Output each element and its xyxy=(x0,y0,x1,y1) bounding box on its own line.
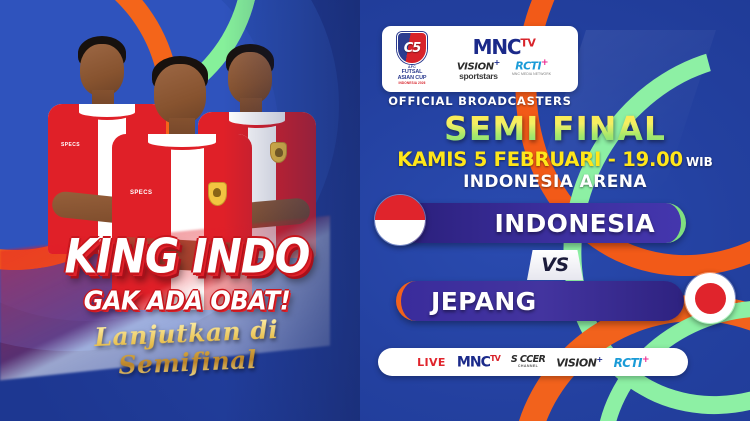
live-vision-wordmark: VISION xyxy=(556,356,596,369)
live-soccer-channel-logo: S CCER CHANNEL xyxy=(511,355,545,368)
match-timezone: WIB xyxy=(686,155,713,169)
promo-headline: KING INDO GAK ADA OBAT! Lanjutkan di Sem… xyxy=(22,236,352,377)
live-vision-plus-mark: + xyxy=(596,355,602,364)
away-team-name: JEPANG xyxy=(431,287,537,316)
sportstars-wordmark: sportstars xyxy=(457,72,500,81)
rcti-network-subtext: MNC MEDIA NETWORK xyxy=(512,73,551,77)
versus-label: VS xyxy=(541,254,568,276)
live-mnctv-wordmark: MNC xyxy=(457,354,490,370)
live-vision-plus-logo: VISION+ xyxy=(556,355,602,370)
secondary-broadcaster-row: VISION+ sportstars RCTI+ MNC MEDIA NETWO… xyxy=(457,59,551,82)
vision-plus-logo: VISION+ sportstars xyxy=(457,59,500,82)
match-info-panel: C5 AFC FUTSAL ASIAN CUP INDONESIA 2026 M… xyxy=(360,0,750,421)
live-soccer-subtext: CHANNEL xyxy=(511,365,545,369)
headline-line-3: Lanjutkan di Semifinal xyxy=(21,312,353,384)
match-datetime-text: KAMIS 5 FEBRUARI - 19.00 xyxy=(397,148,683,171)
afc-futsal-asian-cup-logo: C5 AFC FUTSAL ASIAN CUP INDONESIA 2026 xyxy=(390,31,434,87)
headline-line-2: GAK ADA OBAT! xyxy=(22,286,352,316)
live-rcti-plus-logo: RCTI+ xyxy=(614,355,649,370)
afc-logo-line-4: INDONESIA 2026 xyxy=(398,82,427,85)
home-team-bar: INDONESIA xyxy=(398,203,686,243)
match-stage-title: SEMI FINAL xyxy=(360,112,750,145)
official-broadcasters-caption: OFFICIAL BROADCASTERS xyxy=(382,94,578,108)
vision-wordmark: VISION xyxy=(457,61,494,72)
headline-line-1: KING INDO xyxy=(22,233,352,280)
live-rcti-wordmark: RCTI xyxy=(614,356,642,370)
rcti-plus-logo: RCTI+ MNC MEDIA NETWORK xyxy=(512,59,551,77)
match-datetime: KAMIS 5 FEBRUARI - 19.00WIB xyxy=(360,150,750,170)
away-team-bar: JEPANG xyxy=(396,281,684,321)
mnctv-tv-mark: TV xyxy=(520,36,535,49)
rcti-wordmark: RCTI xyxy=(515,59,541,72)
live-label: LIVE xyxy=(417,356,446,369)
match-venue: INDONESIA ARENA xyxy=(360,174,750,191)
afc-shield-icon: C5 xyxy=(397,32,427,64)
mnctv-wordmark: MNC xyxy=(473,35,521,59)
live-channels-strip: LIVE MNCTV S CCER CHANNEL VISION+ RCTI+ xyxy=(378,348,688,376)
afc-logo-wordmark: AFC FUTSAL ASIAN CUP INDONESIA 2026 xyxy=(398,66,427,85)
broadcaster-logo-group: MNCTV VISION+ sportstars RCTI+ MNC MEDIA… xyxy=(434,37,570,82)
away-team-row: JEPANG xyxy=(360,278,750,324)
flag-japan-icon xyxy=(684,272,736,324)
live-mnctv-logo: MNCTV xyxy=(457,354,500,371)
live-mnctv-tv-mark: TV xyxy=(490,354,500,363)
home-team-row: INDONESIA xyxy=(360,200,750,246)
versus-badge: VS xyxy=(527,250,583,280)
match-promo-poster: SPECS SPECS xyxy=(0,0,750,421)
afc-logo-mark: C5 xyxy=(404,41,421,56)
mnctv-logo: MNCTV xyxy=(473,37,536,57)
rcti-plus-mark: + xyxy=(541,58,548,68)
home-team-name: INDONESIA xyxy=(495,209,656,238)
vision-plus-mark: + xyxy=(494,58,500,67)
live-rcti-plus-mark: + xyxy=(642,355,649,365)
flag-indonesia-icon xyxy=(374,194,426,246)
official-broadcaster-card: C5 AFC FUTSAL ASIAN CUP INDONESIA 2026 M… xyxy=(382,26,578,92)
